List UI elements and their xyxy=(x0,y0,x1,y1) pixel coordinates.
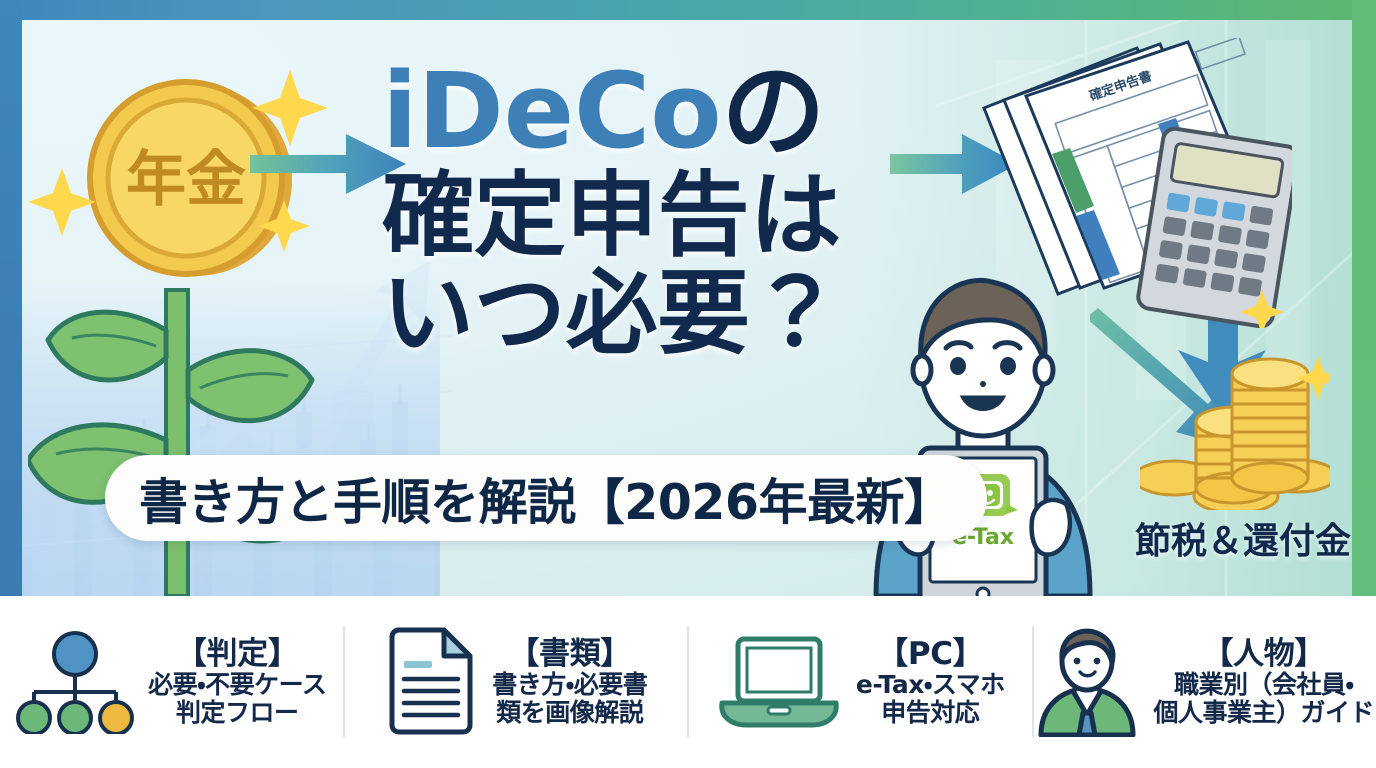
hero-section: 年金 xyxy=(0,0,1376,596)
laptop-icon xyxy=(716,633,842,731)
footer-item-line2: 個人事業主）ガイド xyxy=(1153,699,1374,727)
footer-item-text: 【PC】 e-Tax・スマホ 申告対応 xyxy=(856,637,1005,728)
footer-item-title: 【人物】 xyxy=(1202,637,1325,672)
footer-item-text: 【書類】 書き方・必要書 類を画像解説 xyxy=(492,637,647,728)
footer-item-line1: 書き方・必要書 xyxy=(492,671,647,699)
gold-coin-stack-illustration xyxy=(1140,350,1330,510)
title-line-2: 確定申告は xyxy=(382,172,942,260)
footer-item-judgement[interactable]: 【判定】 必要・不要ケース 判定フロー xyxy=(0,616,343,748)
footer-item-line2: 申告対応 xyxy=(881,699,979,727)
footer-item-documents[interactable]: 【書類】 書き方・必要書 類を画像解説 xyxy=(345,616,688,748)
document-icon xyxy=(384,627,478,737)
footer-item-line1: 職業別（会社員・ xyxy=(1174,671,1354,699)
footer-item-text: 【人物】 職業別（会社員・ 個人事業主）ガイド xyxy=(1153,637,1374,728)
infographic-banner: 年金 xyxy=(0,0,1376,768)
footer-item-person[interactable]: 【人物】 職業別（会社員・ 個人事業主）ガイド xyxy=(1034,616,1376,748)
footer-item-line1: e-Tax・スマホ xyxy=(856,671,1005,699)
footer-item-line1: 必要・不要ケース xyxy=(148,671,326,699)
footer-item-line2: 判定フロー xyxy=(176,699,299,727)
frame-left-border xyxy=(0,0,22,598)
footer-item-title: 【書類】 xyxy=(508,637,631,672)
title-line-1: iDeCoの xyxy=(382,62,942,162)
footer-item-line2: 類を画像解説 xyxy=(496,699,643,727)
footer-item-title: 【判定】 xyxy=(176,637,299,672)
person-icon xyxy=(1035,627,1139,737)
footer-item-text: 【判定】 必要・不要ケース 判定フロー xyxy=(148,637,326,728)
title-brand-ideco: iDeCo xyxy=(382,50,722,172)
footer-feature-bar: 【判定】 必要・不要ケース 判定フロー 【書類】 書き方・ xyxy=(0,596,1376,768)
title-line-3: いつ必要？ xyxy=(382,270,942,358)
page-title: iDeCoの 確定申告は いつ必要？ xyxy=(382,62,942,358)
flowchart-icon xyxy=(16,630,134,734)
coin-label: 年金 xyxy=(126,145,246,215)
title-particle-no: の xyxy=(722,50,826,172)
footer-item-title: 【PC】 xyxy=(877,637,983,672)
frame-top-border xyxy=(0,0,1376,20)
savings-label: 節税＆還付金 xyxy=(1118,512,1368,564)
subtitle-badge: 書き方と手順を解説【2026年最新】 xyxy=(105,455,987,541)
frame-right-border xyxy=(1352,0,1376,598)
footer-item-pc[interactable]: 【PC】 e-Tax・スマホ 申告対応 xyxy=(689,616,1032,748)
subtitle-text: 書き方と手順を解説【2026年最新】 xyxy=(139,463,953,534)
